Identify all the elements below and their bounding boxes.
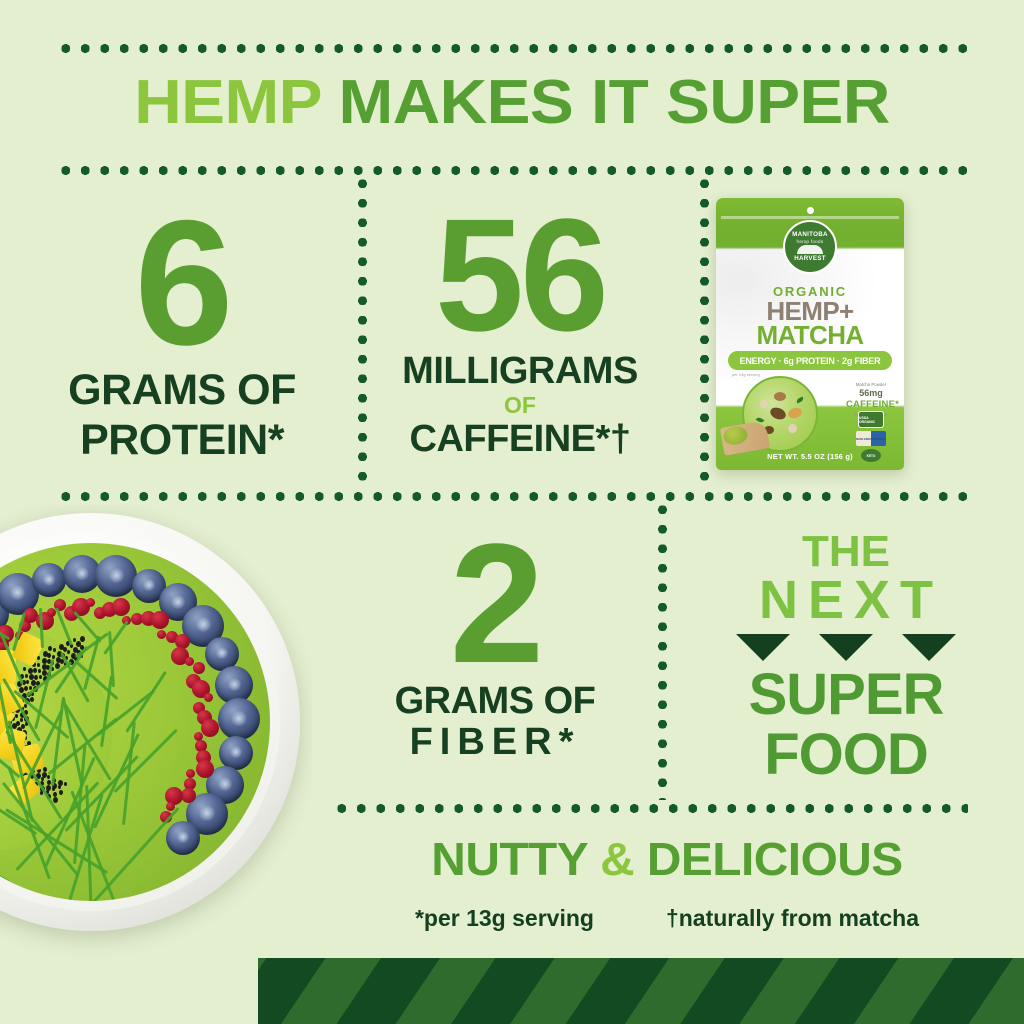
- black-sesame-seed: [59, 790, 63, 795]
- package-net-weight: NET WT. 5.5 OZ (156 g): [716, 452, 904, 461]
- black-sesame-seed: [34, 675, 38, 680]
- package-zipper: [721, 216, 899, 219]
- product-package: MANITOBA hemp foods HARVEST ORGANIC HEMP…: [716, 198, 904, 470]
- triangle-down-icon: [819, 634, 873, 661]
- stat-protein-number: 6: [22, 205, 342, 362]
- black-sesame-seed: [38, 669, 41, 673]
- divider-middle: [56, 492, 968, 501]
- pomegranate-seed: [193, 662, 205, 674]
- next-superfood-block: THE NEXT SUPER FOOD: [668, 530, 1024, 785]
- bottom-striped-bar: [258, 958, 1024, 1024]
- dill-frond: [125, 671, 167, 733]
- package-spoon-photo: [720, 420, 770, 456]
- stat-caffeine-connector: OF: [370, 391, 670, 420]
- footnotes: *per 13g serving †naturally from matcha: [310, 905, 1024, 932]
- pomegranate-seed: [157, 630, 166, 639]
- divider-vertical-row1-right: [700, 174, 709, 490]
- black-sesame-seed: [53, 792, 57, 797]
- stat-protein-line1: GRAMS OF: [22, 368, 342, 413]
- pomegranate-seed: [112, 598, 130, 616]
- brand-logo-bottom: HARVEST: [794, 255, 826, 263]
- tagline-part2: DELICIOUS: [634, 833, 903, 885]
- pomegranate-seed: [151, 611, 169, 629]
- divider-vertical-row1-left: [358, 174, 367, 490]
- pomegranate-seed: [86, 598, 95, 607]
- usda-organic-badge-icon: USDA ORGANIC: [858, 411, 884, 428]
- headline-word-light: HEMP: [134, 68, 321, 137]
- package-benefits-banner: ENERGY · 6g PROTEIN · 2g FIBER: [728, 351, 892, 370]
- pomegranate-seed: [201, 719, 219, 737]
- next-superfood-next: NEXT: [668, 573, 1024, 627]
- stat-fiber: 2 GRAMS OF FIBER*: [330, 530, 660, 763]
- blueberry: [166, 821, 200, 855]
- black-sesame-seed: [64, 782, 67, 786]
- black-sesame-seed: [47, 780, 51, 785]
- stat-caffeine-line1: MILLIGRAMS: [370, 352, 670, 392]
- blueberry: [219, 736, 253, 770]
- next-superfood-super: SUPER: [668, 665, 1024, 725]
- package-body: MANITOBA hemp foods HARVEST ORGANIC HEMP…: [716, 198, 904, 470]
- black-sesame-seed: [67, 650, 70, 654]
- stat-caffeine-number: 56: [370, 205, 670, 346]
- divider-bottom: [332, 804, 968, 813]
- blueberry: [32, 563, 66, 597]
- next-superfood-the: THE: [668, 530, 1024, 573]
- package-name-line2: MATCHA: [716, 322, 904, 349]
- tagline-ampersand: &: [600, 833, 634, 885]
- pomegranate-seed: [196, 760, 214, 778]
- black-sesame-seed: [47, 653, 51, 658]
- pomegranate-seed: [194, 732, 203, 741]
- farm-hill-icon: [797, 245, 823, 254]
- stat-caffeine: 56 MILLIGRAMS OF CAFFEINE*†: [370, 205, 670, 460]
- stat-fiber-line2: FIBER*: [330, 723, 660, 763]
- tagline-part1: NUTTY: [431, 833, 600, 885]
- black-sesame-seed: [25, 674, 28, 678]
- stat-protein: 6 GRAMS OF PROTEIN*: [22, 205, 342, 463]
- dill-frond: [103, 620, 128, 654]
- pomegranate-seed: [204, 693, 213, 702]
- non-gmo-badge-icon: NON GMO PROJECT: [856, 431, 886, 446]
- black-sesame-seed: [80, 636, 85, 642]
- footnote-dagger: †naturally from matcha: [666, 905, 919, 932]
- divider-top: [56, 44, 968, 53]
- brand-logo-top: MANITOBA: [792, 231, 828, 239]
- smoothie-bowl-photo: [0, 505, 312, 1024]
- page-headline: HEMP MAKES IT SUPER: [0, 72, 1024, 134]
- stat-fiber-line1: GRAMS OF: [330, 682, 660, 722]
- package-caffeine-value: 56mg: [846, 388, 896, 399]
- headline-word-dark: MAKES IT SUPER: [339, 68, 890, 137]
- blueberry: [95, 555, 137, 597]
- package-serving-note: per 13g serving: [732, 373, 760, 377]
- triangle-down-icon: [902, 634, 956, 661]
- footnote-asterisk: *per 13g serving: [415, 905, 594, 932]
- brand-logo-mid: hemp foods: [796, 239, 823, 245]
- tagline: NUTTY & DELICIOUS: [296, 832, 1024, 886]
- divider-vertical-row2: [658, 500, 667, 800]
- package-hang-hole-icon: [807, 207, 814, 214]
- package-caffeine-word: CAFFEINE*: [846, 399, 896, 411]
- pomegranate-seed: [181, 788, 196, 803]
- pomegranate-seed: [186, 769, 195, 778]
- stat-protein-line2: PROTEIN*: [22, 418, 342, 463]
- brand-logo: MANITOBA hemp foods HARVEST: [783, 220, 837, 274]
- arrow-row: [668, 634, 1024, 661]
- stat-fiber-number: 2: [330, 530, 660, 680]
- black-sesame-seed: [73, 638, 76, 642]
- black-sesame-seed: [42, 772, 47, 778]
- triangle-down-icon: [736, 634, 790, 661]
- next-superfood-food: FOOD: [668, 725, 1024, 785]
- stat-caffeine-line2: CAFFEINE*†: [370, 420, 670, 460]
- divider-under-headline: [56, 166, 968, 175]
- blueberry: [218, 698, 260, 740]
